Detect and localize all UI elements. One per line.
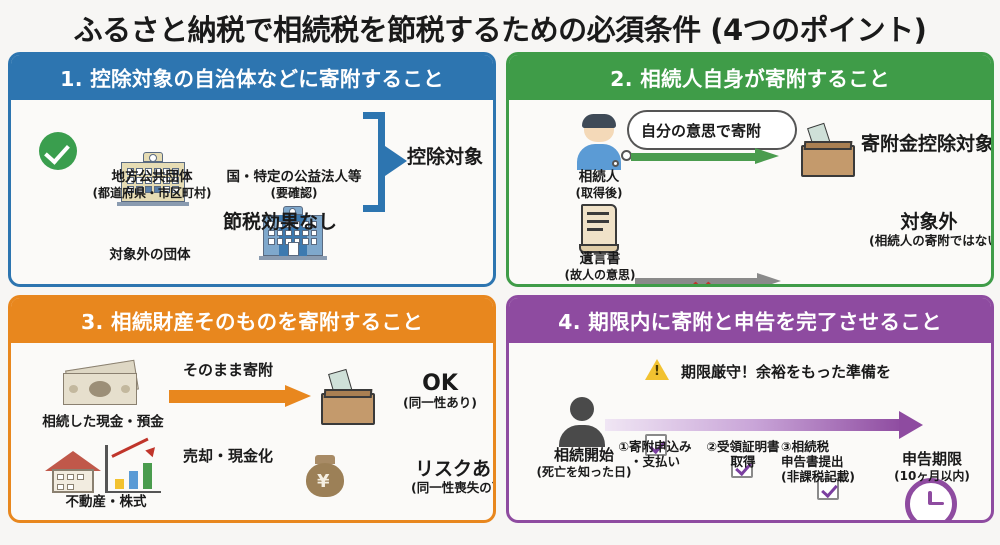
panel-4-warning: 期限厳守！余裕をもった準備を	[681, 361, 891, 382]
panel-2-body: 相続人 (取得後) 自分の意思で寄附 寄附金控除対象	[509, 100, 991, 284]
stock-chart-icon	[105, 445, 163, 493]
arrow-icon	[385, 146, 407, 176]
step-2-label: ②受領証明書 取得	[693, 439, 793, 469]
check-icon	[39, 132, 77, 170]
panel-4: 4. 期限内に寄附と申告を完了させること 期限厳守！余裕をもった準備を 相続開始…	[506, 295, 994, 523]
panel-3-result-0: OK (同一性あり)	[385, 371, 495, 411]
panel-1: 1. 控除対象の自治体などに寄附すること 地方公共団体 (都道府県・市区町村)	[8, 52, 496, 287]
panel-3-heading: 3. 相続財産そのものを寄附すること	[11, 298, 493, 343]
panel-3-arrow-label-1: 売却・現金化	[183, 445, 273, 466]
panel-3-asset-1: 不動産・株式	[43, 495, 169, 511]
panel-1-heading: 1. 控除対象の自治体などに寄附すること	[11, 55, 493, 100]
timeline-arrow-icon	[899, 411, 923, 439]
cash-icon	[59, 365, 145, 411]
money-bag-icon: ¥	[303, 455, 347, 499]
panel-3-asset-0: 相続した現金・預金	[33, 415, 173, 431]
will-document-icon	[579, 204, 621, 254]
panel-3-result-1: リスクあり (同一性喪失の可能性)	[367, 459, 496, 495]
step-1-label: ①寄附申込み ・支払い	[605, 439, 705, 469]
direct-donation-arrow-icon	[169, 389, 313, 407]
start-person-icon	[557, 397, 607, 447]
panel-1-item-2-label: 対象外の団体	[95, 248, 205, 264]
donation-box-icon	[801, 139, 855, 179]
panel-1-item-1-label: 国・特定の公益法人等 (要確認)	[209, 170, 379, 200]
panel-2-heading: 2. 相続人自身が寄附すること	[509, 55, 991, 100]
panel-2-actor-0: 相続人 (取得後)	[553, 170, 645, 200]
panels-grid: 1. 控除対象の自治体などに寄附すること 地方公共団体 (都道府県・市区町村)	[0, 52, 1000, 523]
panel-3: 3. 相続財産そのものを寄附すること 相続した現金・預金 そのまま寄附	[8, 295, 496, 523]
panel-2: 2. 相続人自身が寄附すること 相続人 (取得後) 自分の意思で寄附	[506, 52, 994, 287]
panel-3-body: 相続した現金・預金 そのまま寄附 OK (同一性あり)	[11, 343, 493, 520]
panel-1-result-1: 節税効果なし	[223, 212, 337, 234]
warning-triangle-icon	[645, 359, 669, 380]
panel-3-arrow-label-0: そのまま寄附	[183, 359, 273, 380]
panel-2-bubble-text: 自分の意思で寄附	[641, 120, 761, 141]
real-estate-house-icon	[45, 447, 101, 493]
panel-4-end-label: 申告期限 (10ヶ月以内)	[879, 451, 985, 483]
cross-icon	[687, 276, 717, 287]
panel-1-item-0-label: 地方公共団体 (都道府県・市区町村)	[77, 170, 227, 200]
panel-1-result-0: 控除対象	[407, 147, 483, 169]
timeline-bar	[605, 419, 903, 431]
panel-1-body: 地方公共団体 (都道府県・市区町村) 国・特定の公益法人等 (要確認)	[11, 100, 493, 287]
deadline-clock-icon	[905, 478, 957, 523]
bubble-dot-small	[612, 160, 619, 167]
panel-2-result-1: 対象外 (相続人の寄附ではない)	[869, 212, 989, 248]
step-3-label: ③相続税 申告書提出 (非課税記載)	[781, 439, 877, 484]
panel-4-body: 期限厳守！余裕をもった準備を 相続開始 (死亡を知った日) ①寄附申込み ・支払…	[509, 343, 991, 520]
donation-arrow-icon	[631, 150, 781, 163]
donation-box-icon	[321, 387, 375, 427]
panel-2-result-0: 寄附金控除対象	[861, 134, 994, 156]
panel-4-heading: 4. 期限内に寄附と申告を完了させること	[509, 298, 991, 343]
page-title: ふるさと納税で相続税を節税するための必須条件 (4つのポイント)	[0, 0, 1000, 52]
